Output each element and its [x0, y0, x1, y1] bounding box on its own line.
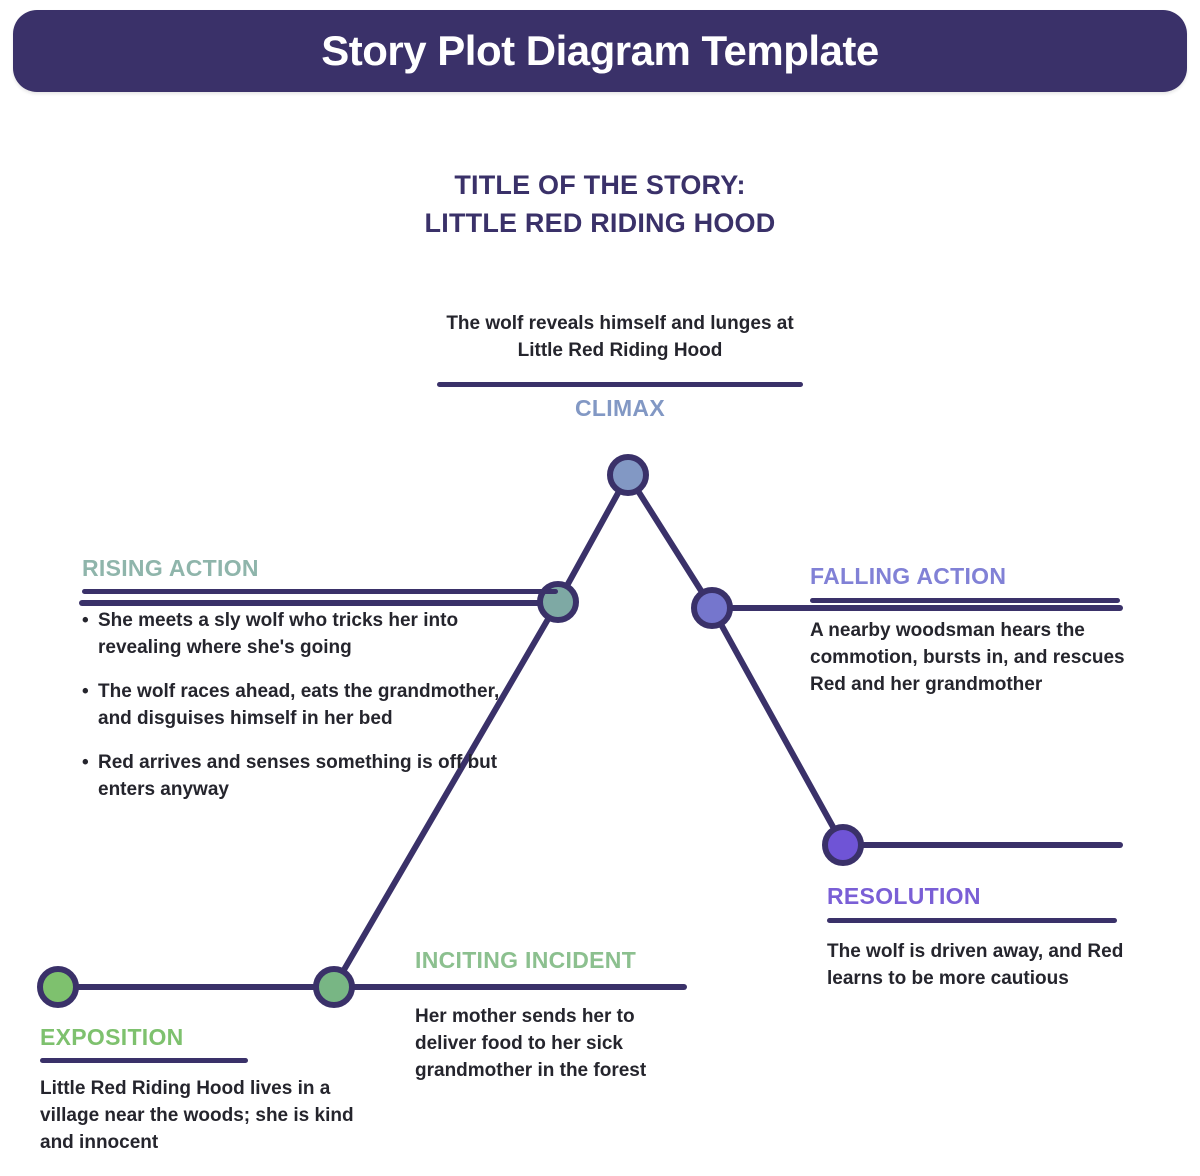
resolution-rule: [827, 918, 1117, 923]
falling-action-label: FALLING ACTION: [810, 564, 1140, 589]
story-title-prefix: TITLE OF THE STORY:: [0, 166, 1200, 204]
resolution-description: The wolf is driven away, and Red learns …: [827, 939, 1127, 993]
rising-action-description: She meets a sly wolf who tricks her into…: [82, 608, 527, 804]
falling-action-description: A nearby woodsman hears the commotion, b…: [810, 618, 1140, 699]
header-banner: Story Plot Diagram Template: [13, 10, 1187, 92]
climax-description: The wolf reveals himself and lunges at L…: [370, 310, 870, 364]
plot-node-climax[interactable]: [610, 457, 646, 493]
climax-description-line1: The wolf reveals himself and lunges at: [446, 313, 793, 334]
stage-resolution: RESOLUTION The wolf is driven away, and …: [827, 884, 1127, 993]
inciting-incident-description: Her mother sends her to deliver food to …: [415, 1004, 695, 1085]
rising-action-label: RISING ACTION: [82, 556, 552, 581]
exposition-label: EXPOSITION: [40, 1025, 370, 1050]
list-item: Red arrives and senses something is off …: [82, 750, 527, 804]
stage-inciting-incident: INCITING INCIDENT Her mother sends her t…: [415, 948, 695, 1085]
climax-label: CLIMAX: [370, 396, 870, 421]
stage-climax: The wolf reveals himself and lunges at L…: [370, 310, 870, 422]
stage-rising-action: RISING ACTION She meets a sly wolf who t…: [82, 556, 552, 804]
story-title-name: LITTLE RED RIDING HOOD: [0, 204, 1200, 242]
plot-node-exposition[interactable]: [40, 969, 76, 1005]
falling-action-rule: [810, 598, 1120, 603]
climax-rule: [437, 382, 803, 387]
rising-action-rule: [82, 589, 558, 594]
list-item: She meets a sly wolf who tricks her into…: [82, 608, 527, 662]
list-item: The wolf races ahead, eats the grandmoth…: [82, 679, 527, 733]
plot-node-falling-action[interactable]: [694, 590, 730, 626]
exposition-rule: [40, 1058, 248, 1063]
story-title: TITLE OF THE STORY: LITTLE RED RIDING HO…: [0, 166, 1200, 243]
climax-description-line2: Little Red Riding Hood: [518, 340, 723, 361]
rising-action-bullet-list: She meets a sly wolf who tricks her into…: [82, 608, 527, 804]
plot-node-inciting-incident[interactable]: [316, 969, 352, 1005]
inciting-incident-label: INCITING INCIDENT: [415, 948, 695, 973]
page-title: Story Plot Diagram Template: [321, 30, 879, 72]
stage-exposition: EXPOSITION Little Red Riding Hood lives …: [40, 1025, 370, 1157]
plot-node-resolution[interactable]: [825, 827, 861, 863]
stage-falling-action: FALLING ACTION A nearby woodsman hears t…: [810, 564, 1140, 699]
resolution-label: RESOLUTION: [827, 884, 1127, 909]
exposition-description: Little Red Riding Hood lives in a villag…: [40, 1076, 370, 1157]
